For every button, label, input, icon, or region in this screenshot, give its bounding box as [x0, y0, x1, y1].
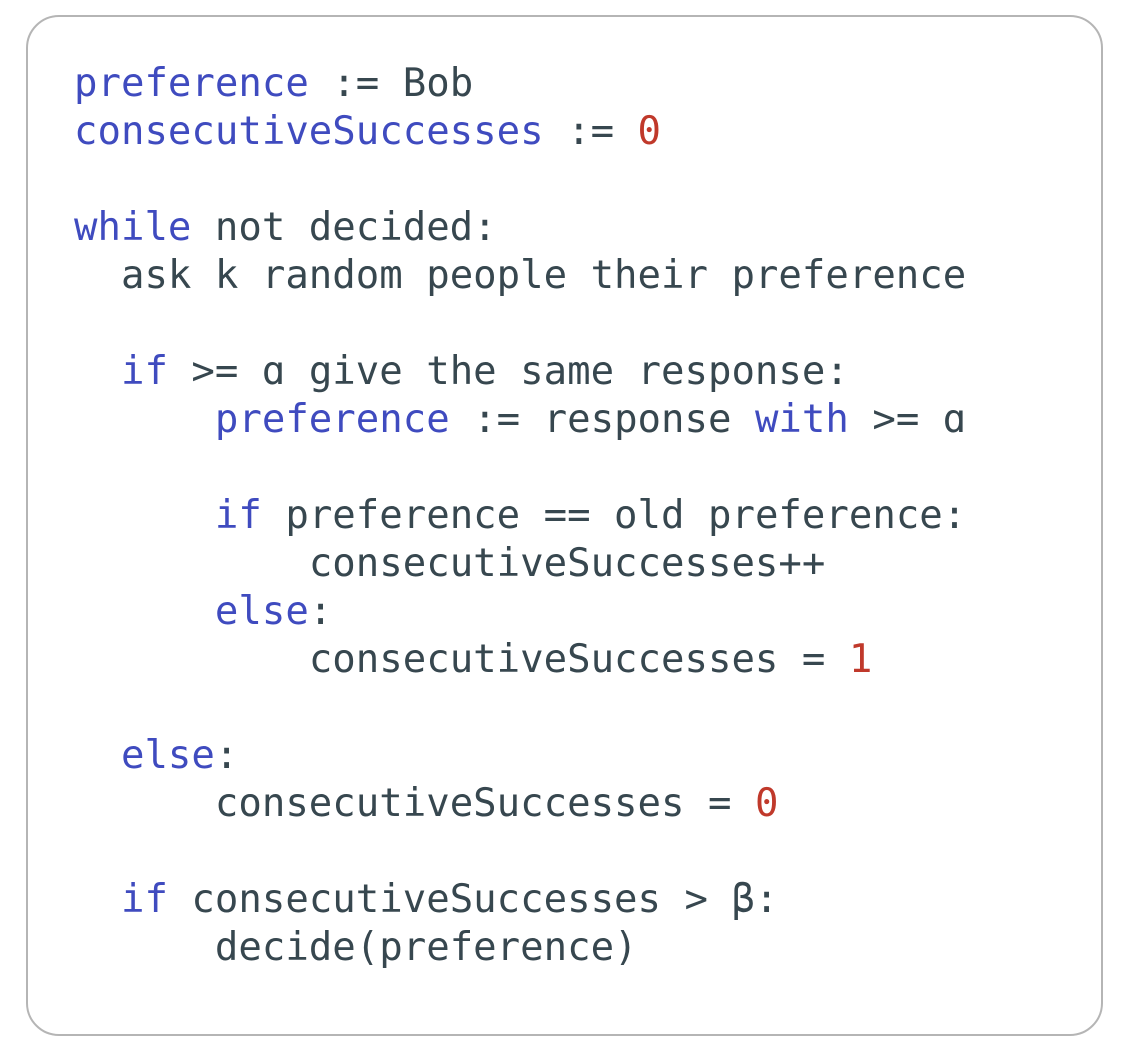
- code-token-txt: := Bob: [309, 61, 473, 106]
- code-line: if preference == old preference:: [74, 492, 966, 540]
- code-indent: [74, 637, 309, 682]
- code-token-txt: >= ɑ: [849, 397, 966, 442]
- code-line: if consecutiveSuccesses > β:: [74, 876, 966, 924]
- code-line: preference := Bob: [74, 60, 966, 108]
- code-indent: [74, 397, 215, 442]
- code-token-txt: consecutiveSuccesses++: [309, 541, 826, 586]
- code-line: while not decided:: [74, 204, 966, 252]
- code-listing: preference := BobconsecutiveSuccesses :=…: [74, 60, 966, 972]
- code-token-var: preference: [74, 61, 309, 106]
- code-line: consecutiveSuccesses = 0: [74, 780, 966, 828]
- code-token-txt: preference == old preference:: [262, 493, 966, 538]
- code-line: decide(preference): [74, 924, 966, 972]
- code-token-txt: ask k random people their preference: [121, 253, 966, 298]
- code-indent: [74, 589, 215, 634]
- code-indent: [74, 733, 121, 778]
- code-indent: [74, 925, 215, 970]
- code-line: preference := response with >= ɑ: [74, 396, 966, 444]
- code-token-txt: := response: [450, 397, 755, 442]
- code-token-kw: with: [755, 397, 849, 442]
- code-token-var: preference: [215, 397, 450, 442]
- code-line: consecutiveSuccesses = 1: [74, 636, 966, 684]
- code-token-kw: while: [74, 205, 191, 250]
- code-indent: [74, 349, 121, 394]
- code-blank-line: [74, 444, 966, 492]
- code-token-txt: consecutiveSuccesses =: [215, 781, 755, 826]
- code-token-kw: if: [215, 493, 262, 538]
- code-indent: [74, 253, 121, 298]
- code-indent: [74, 493, 215, 538]
- code-token-num: 0: [638, 109, 661, 154]
- code-indent: [74, 781, 215, 826]
- code-token-txt: consecutiveSuccesses =: [309, 637, 849, 682]
- code-blank-line: [74, 156, 966, 204]
- code-line: ask k random people their preference: [74, 252, 966, 300]
- code-token-txt: :=: [544, 109, 638, 154]
- code-line: consecutiveSuccesses := 0: [74, 108, 966, 156]
- code-token-var: consecutiveSuccesses: [74, 109, 544, 154]
- code-token-num: 0: [755, 781, 778, 826]
- code-token-num: 1: [849, 637, 872, 682]
- code-token-txt: not decided:: [191, 205, 496, 250]
- code-token-txt: >= ɑ give the same response:: [168, 349, 849, 394]
- code-indent: [74, 877, 121, 922]
- code-token-txt: decide(preference): [215, 925, 638, 970]
- code-line: else:: [74, 588, 966, 636]
- code-token-kw: else: [121, 733, 215, 778]
- code-line: if >= ɑ give the same response:: [74, 348, 966, 396]
- code-token-kw: if: [121, 349, 168, 394]
- code-token-txt: :: [215, 733, 238, 778]
- code-token-kw: if: [121, 877, 168, 922]
- code-indent: [74, 541, 309, 586]
- code-blank-line: [74, 300, 966, 348]
- code-blank-line: [74, 828, 966, 876]
- code-token-txt: consecutiveSuccesses > β:: [168, 877, 778, 922]
- code-line: else:: [74, 732, 966, 780]
- code-token-txt: :: [309, 589, 332, 634]
- code-card: preference := BobconsecutiveSuccesses :=…: [26, 15, 1103, 1036]
- code-token-kw: else: [215, 589, 309, 634]
- code-line: consecutiveSuccesses++: [74, 540, 966, 588]
- code-blank-line: [74, 684, 966, 732]
